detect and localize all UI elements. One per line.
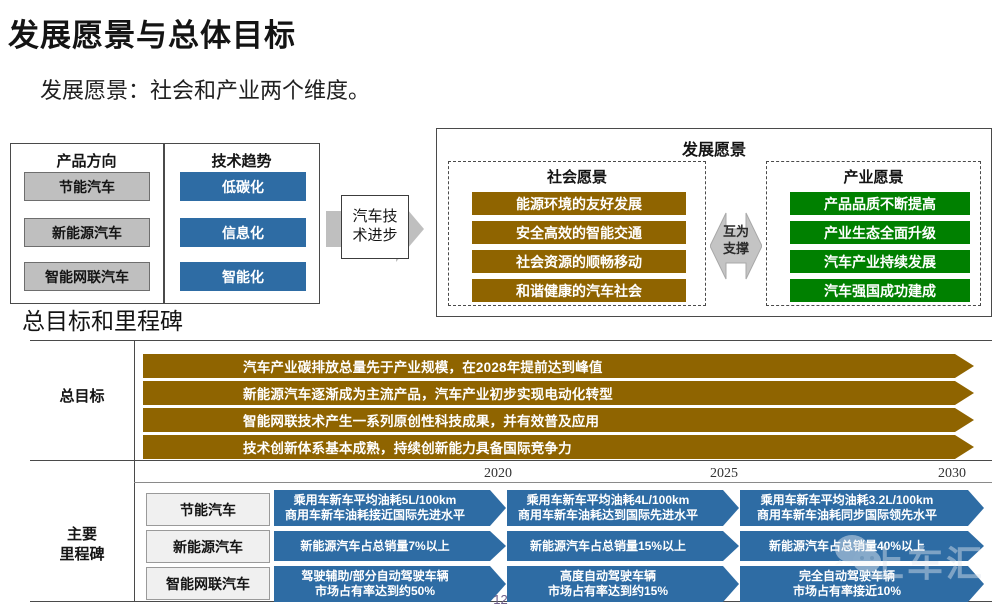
mutual-support-label: 互为 支撑 [710, 224, 762, 258]
milestone-r3c1-line1: 驾驶辅助/部分自动驾驶车辆 [301, 569, 448, 583]
milestone-cell-r1c1[interactable]: 乘用车新车平均油耗5L/100km 商用车新车油耗接近国际先进水平 [274, 490, 490, 526]
tech-item-intelligence[interactable]: 智能化 [180, 262, 306, 291]
milestone-label-line2: 里程碑 [59, 546, 104, 563]
row-label-overall-goals: 总目标 [30, 385, 134, 406]
social-vision-item-1[interactable]: 能源环境的友好发展 [472, 192, 686, 215]
goal-text-1: 汽车产业碳排放总量先于产业规模，在2028年提前达到峰值 [143, 356, 603, 376]
mutual-support-line1: 互为 [723, 224, 749, 239]
product-item-new-energy[interactable]: 新能源汽车 [24, 218, 150, 247]
vision-panel-title: 发展愿景 [436, 136, 992, 160]
page-title: 发展愿景与总体目标 [8, 10, 296, 55]
social-vision-item-3[interactable]: 社会资源的顺畅移动 [472, 250, 686, 273]
social-vision-heading: 社会愿景 [448, 166, 706, 187]
milestone-cell-r2c3-tip [968, 531, 984, 561]
goal-bar-4[interactable]: 技术创新体系基本成熟，持续创新能力具备国际竞争力 [143, 435, 955, 459]
milestone-r1c2-line2: 商用车新车油耗达到国际先进水平 [518, 508, 698, 522]
social-vision-item-4[interactable]: 和谐健康的汽车社会 [472, 279, 686, 302]
industry-vision-item-4[interactable]: 汽车强国成功建成 [790, 279, 970, 302]
milestone-cell-r2c2[interactable]: 新能源汽车占总销量15%以上 [507, 531, 723, 561]
milestone-cell-r2c3[interactable]: 新能源汽车占总销量40%以上 [740, 531, 968, 561]
tech-progress-label: 汽车技 术进步 [341, 195, 409, 259]
year-label-2020: 2020 [484, 466, 512, 482]
product-item-energy-saving[interactable]: 节能汽车 [24, 172, 150, 201]
industry-vision-item-3[interactable]: 汽车产业持续发展 [790, 250, 970, 273]
goal-bar-2-tip [955, 381, 974, 405]
goal-text-4: 技术创新体系基本成熟，持续创新能力具备国际竞争力 [143, 437, 572, 457]
table-year-axis-line [134, 482, 992, 483]
milestone-r2c1-line1: 新能源汽车占总销量7%以上 [274, 539, 490, 554]
milestone-r1c2-line1: 乘用车新车平均油耗4L/100km [527, 493, 690, 507]
milestone-r1c3-line2: 商用车新车油耗同步国际领先水平 [757, 508, 937, 522]
milestone-category-energy-saving[interactable]: 节能汽车 [146, 493, 270, 526]
product-item-intelligent-connected[interactable]: 智能网联汽车 [24, 262, 150, 291]
milestone-cell-r2c1-tip [490, 531, 506, 561]
product-direction-heading: 产品方向 [10, 150, 163, 171]
goal-bar-2[interactable]: 新能源汽车逐渐成为主流产品，汽车产业初步实现电动化转型 [143, 381, 955, 405]
goal-text-2: 新能源汽车逐渐成为主流产品，汽车产业初步实现电动化转型 [143, 383, 613, 403]
tech-trend-heading: 技术趋势 [164, 150, 319, 171]
milestone-cell-r1c2[interactable]: 乘用车新车平均油耗4L/100km 商用车新车油耗达到国际先进水平 [507, 490, 723, 526]
industry-vision-item-1[interactable]: 产品品质不断提高 [790, 192, 970, 215]
page-subtitle: 发展愿景：社会和产业两个维度。 [40, 73, 370, 105]
year-label-2025: 2025 [710, 466, 738, 482]
section-title: 总目标和里程碑 [22, 302, 183, 336]
milestone-category-new-energy[interactable]: 新能源汽车 [146, 530, 270, 563]
mutual-support-line2: 支撑 [723, 241, 749, 256]
milestone-cell-r2c2-tip [723, 531, 739, 561]
milestone-cell-r1c1-tip [490, 490, 506, 526]
year-label-2030: 2030 [938, 466, 966, 482]
milestone-r3c2-line1: 高度自动驾驶车辆 [560, 569, 656, 583]
milestone-r2c2-line1: 新能源汽车占总销量15%以上 [507, 539, 723, 554]
goal-bar-3-tip [955, 408, 974, 432]
table-middle-border [30, 460, 992, 461]
milestone-r1c3-line1: 乘用车新车平均油耗3.2L/100km [761, 493, 934, 507]
goal-bar-1-tip [955, 354, 974, 378]
industry-vision-item-2[interactable]: 产业生态全面升级 [790, 221, 970, 244]
tech-progress-line1: 汽车技 [352, 208, 397, 225]
row-label-key-milestones: 主要 里程碑 [30, 525, 134, 566]
milestone-cell-r2c1[interactable]: 新能源汽车占总销量7%以上 [274, 531, 490, 561]
tech-progress-line2: 术进步 [352, 227, 397, 244]
milestone-r1c1-line2: 商用车新车油耗接近国际先进水平 [285, 508, 465, 522]
goal-bar-3[interactable]: 智能网联技术产生一系列原创性科技成果，并有效普及应用 [143, 408, 955, 432]
tech-item-informatization[interactable]: 信息化 [180, 218, 306, 247]
milestone-label-line1: 主要 [67, 526, 97, 543]
goal-bar-4-tip [955, 435, 974, 459]
social-vision-item-2[interactable]: 安全高效的智能交通 [472, 221, 686, 244]
goal-text-3: 智能网联技术产生一系列原创性科技成果，并有效普及应用 [143, 410, 599, 430]
milestone-cell-r1c3[interactable]: 乘用车新车平均油耗3.2L/100km 商用车新车油耗同步国际领先水平 [740, 490, 968, 526]
milestone-cell-r1c2-tip [723, 490, 739, 526]
tech-item-low-carbon[interactable]: 低碳化 [180, 172, 306, 201]
goal-bar-1[interactable]: 汽车产业碳排放总量先于产业规模，在2028年提前达到峰值 [143, 354, 955, 378]
table-vertical-divider [134, 340, 135, 601]
table-top-border [30, 340, 992, 341]
milestone-r3c3-line1: 完全自动驾驶车辆 [799, 569, 895, 583]
milestone-r1c1-line1: 乘用车新车平均油耗5L/100km [294, 493, 457, 507]
page-number: 12 [0, 592, 1001, 607]
industry-vision-heading: 产业愿景 [766, 166, 981, 187]
milestone-r2c3-line1: 新能源汽车占总销量40%以上 [740, 539, 968, 554]
milestone-cell-r1c3-tip [968, 490, 984, 526]
